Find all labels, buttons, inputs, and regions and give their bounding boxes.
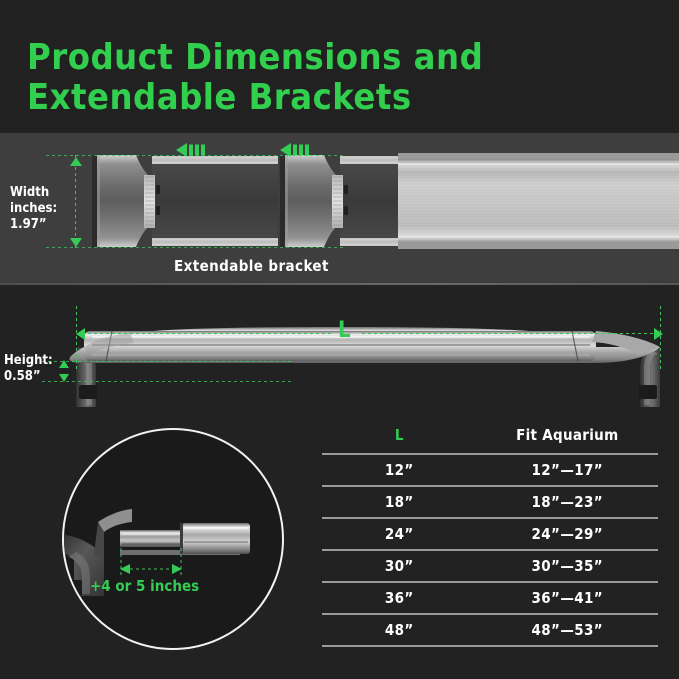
table-row: 48”48”—53”	[322, 614, 658, 646]
dimensions-table: L Fit Aquarium 12”12”—17”18”18”—23”24”24…	[322, 424, 658, 647]
magnified-detail-circle: +4 or 5 inches	[62, 428, 284, 650]
motion-arrow-left-1	[176, 142, 210, 158]
column-header-fit-aquarium: Fit Aquarium	[477, 424, 658, 454]
cell-fit-aquarium: 36”—41”	[477, 582, 658, 614]
page-title: Product Dimensions and Extendable Bracke…	[27, 38, 587, 118]
width-arrow-up-icon	[70, 157, 82, 166]
table-header-row: L Fit Aquarium	[322, 424, 658, 454]
table-row: 18”18”—23”	[322, 486, 658, 518]
column-header-length: L	[322, 424, 477, 454]
width-dimension-label: Width inches: 1.97”	[10, 185, 70, 233]
length-label: L	[338, 318, 351, 343]
table-head: L Fit Aquarium	[322, 424, 658, 454]
cell-fit-aquarium: 12”—17”	[477, 454, 658, 486]
cell-fit-aquarium: 48”—53”	[477, 614, 658, 646]
cell-length: 30”	[322, 550, 477, 582]
cell-fit-aquarium: 30”—35”	[477, 550, 658, 582]
cell-length: 24”	[322, 518, 477, 550]
motion-arrow-left-2	[280, 142, 314, 158]
height-dim-bottom-guide	[42, 381, 292, 382]
width-dim-bottom-guide	[46, 247, 346, 248]
magnified-detail-graphic	[64, 430, 282, 648]
cell-length: 12”	[322, 454, 477, 486]
width-dim-axis	[75, 155, 76, 248]
table-row: 36”36”—41”	[322, 582, 658, 614]
cell-fit-aquarium: 24”—29”	[477, 518, 658, 550]
length-arrow-right-icon	[654, 328, 663, 340]
table-row: 12”12”—17”	[322, 454, 658, 486]
bar-side-view	[0, 285, 679, 435]
table-row: 24”24”—29”	[322, 518, 658, 550]
bar-side-view-graphic	[0, 285, 679, 435]
height-dim-top-guide	[42, 361, 292, 362]
length-dim-line-right	[362, 333, 654, 334]
cell-length: 48”	[322, 614, 477, 646]
length-dim-line-left	[82, 333, 332, 334]
extension-dimension-label: +4 or 5 inches	[90, 578, 199, 594]
extendable-bracket-caption: Extendable bracket	[174, 257, 329, 275]
length-arrow-left-icon	[76, 328, 85, 340]
cell-length: 18”	[322, 486, 477, 518]
table-row: 30”30”—35”	[322, 550, 658, 582]
height-dimension-label: Height: 0.58”	[4, 353, 62, 385]
cell-fit-aquarium: 18”—23”	[477, 486, 658, 518]
spec-table: L Fit Aquarium 12”12”—17”18”18”—23”24”24…	[322, 424, 658, 647]
width-arrow-down-icon	[70, 238, 82, 247]
table-body: 12”12”—17”18”18”—23”24”24”—29”30”30”—35”…	[322, 454, 658, 646]
infographic-page: Product Dimensions and Extendable Bracke…	[0, 0, 679, 679]
cell-length: 36”	[322, 582, 477, 614]
